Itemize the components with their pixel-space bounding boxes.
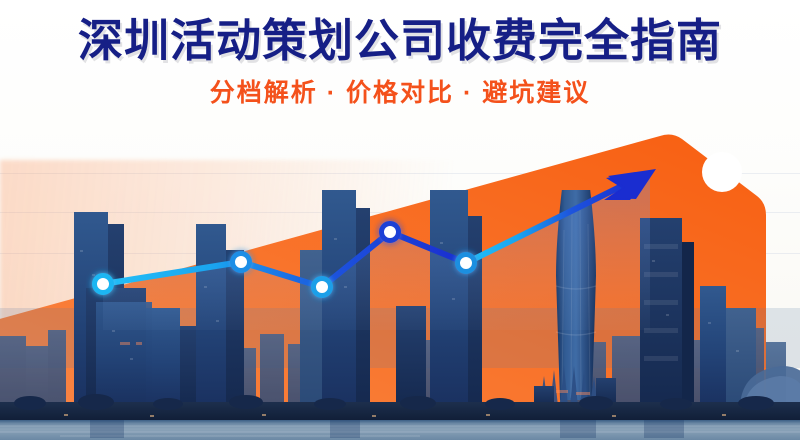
chart-marker	[314, 279, 331, 296]
growth-line-chart	[0, 0, 800, 440]
chart-marker	[382, 224, 399, 241]
chart-area-fill	[103, 172, 650, 330]
banner-graphic: 深圳活动策划公司收费完全指南 分档解析 · 价格对比 · 避坑建议	[0, 0, 800, 440]
chart-marker	[458, 255, 475, 272]
chart-marker	[95, 276, 112, 293]
chart-marker	[233, 254, 250, 271]
